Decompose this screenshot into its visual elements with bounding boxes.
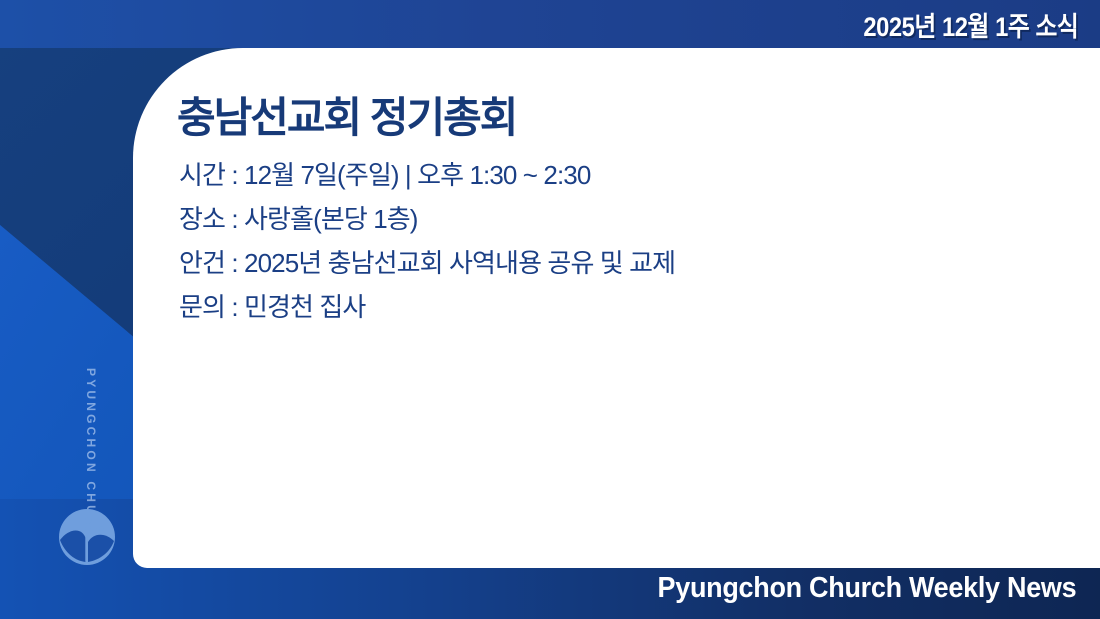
detail-line-time: 시간 : 12월 7일(주일) | 오후 1:30 ~ 2:30 bbox=[179, 153, 1039, 197]
detail-line-place: 장소 : 사랑홀(본당 1층) bbox=[179, 197, 1039, 241]
slide-canvas: 2025년 12월 1주 소식 충남선교회 정기총회 시간 : 12월 7일(주… bbox=[0, 0, 1100, 619]
detail-line-agenda: 안건 : 2025년 충남선교회 사역내용 공유 및 교제 bbox=[179, 241, 1039, 285]
header-date-label: 2025년 12월 1주 소식 bbox=[863, 5, 1078, 44]
footer-title: Pyungchon Church Weekly News bbox=[657, 572, 1076, 605]
church-flower-logo-icon bbox=[58, 508, 116, 566]
detail-line-contact: 문의 : 민경천 집사 bbox=[179, 285, 1039, 329]
header-band: 2025년 12월 1주 소식 bbox=[0, 0, 1100, 48]
content-card: 충남선교회 정기총회 시간 : 12월 7일(주일) | 오후 1:30 ~ 2… bbox=[133, 48, 1100, 568]
detail-list: 시간 : 12월 7일(주일) | 오후 1:30 ~ 2:30 장소 : 사랑… bbox=[179, 153, 1039, 329]
page-title: 충남선교회 정기총회 bbox=[177, 84, 516, 145]
